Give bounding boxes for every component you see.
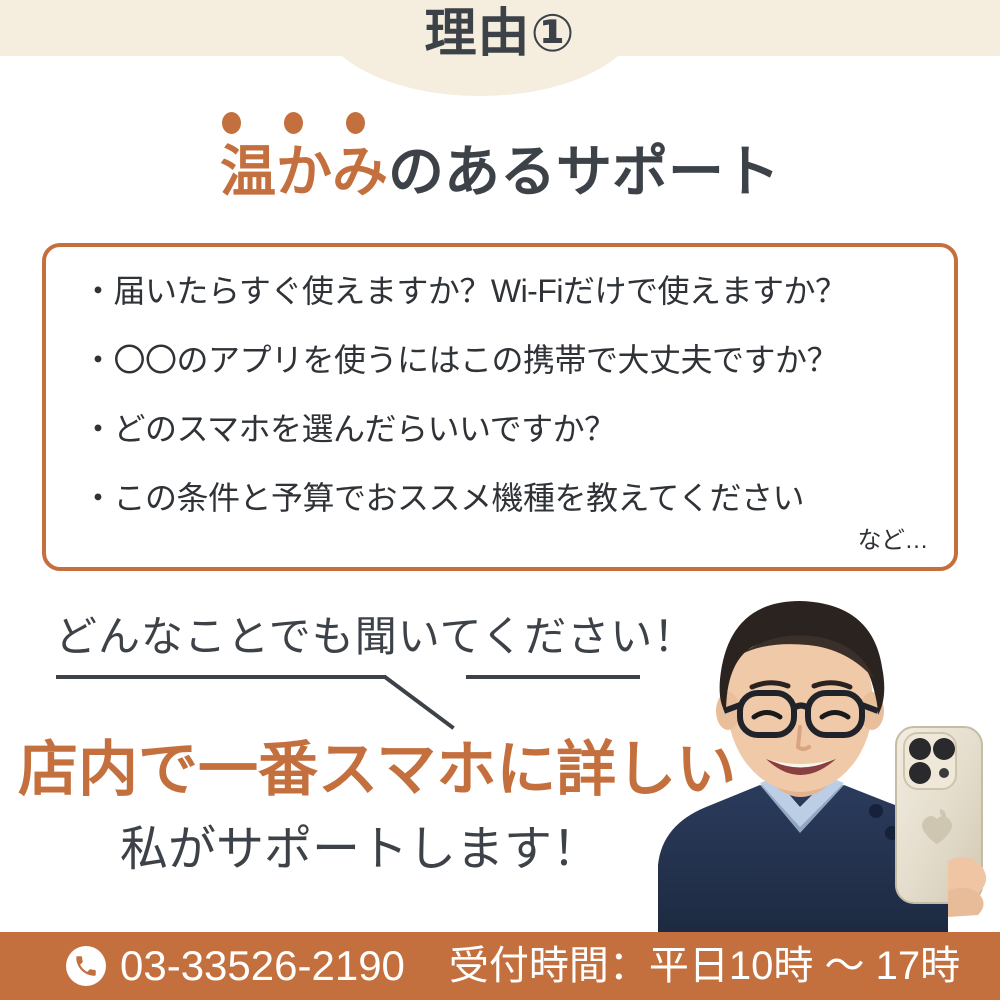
headline: 温かみのあるサポート <box>0 140 1000 204</box>
claim-main-text: 店内で一番スマホに詳しい <box>18 740 736 800</box>
emphasis-dots <box>222 112 382 136</box>
camera-flash <box>939 768 949 778</box>
emphasis-dot-icon <box>346 112 365 134</box>
speech-bubble-tail-icon <box>40 665 660 740</box>
claim-sub-text: 私がサポートします！ <box>120 826 600 874</box>
camera-lens <box>909 762 931 784</box>
headline-accent: 温かみ <box>220 140 388 203</box>
question-box: ・届いたらすぐ使えますか？Wi-Fiだけで使えますか？ ・〇〇のアプリを使うには… <box>42 243 958 571</box>
phone-handset-icon <box>66 946 106 986</box>
sweater-button <box>869 804 883 818</box>
question-box-suffix: など… <box>858 520 929 555</box>
reason-badge-label: 理由① <box>0 8 1000 60</box>
emphasis-dot-icon <box>222 112 241 134</box>
phone-number[interactable]: 03-33526-2190 <box>120 945 405 987</box>
list-item: ・どのスマホを選んだらいいですか？ <box>82 413 932 445</box>
emphasis-dot-icon <box>284 112 303 134</box>
business-hours: 受付時間：平日10時 〜 17時 <box>449 946 960 986</box>
list-item: ・この条件と予算でおススメ機種を教えてください <box>82 482 932 514</box>
list-item: ・〇〇のアプリを使うにはこの携帯で大丈夫ですか？ <box>82 344 932 376</box>
question-list: ・届いたらすぐ使えますか？Wi-Fiだけで使えますか？ ・〇〇のアプリを使うには… <box>82 275 932 514</box>
ask-anything-text: どんなことでも聞いてください！ <box>55 603 696 664</box>
footer-inner: 03-33526-2190 受付時間：平日10時 〜 17時 <box>0 945 960 987</box>
advertisement-page: 理由① 温かみのあるサポート ・届いたらすぐ使えますか？Wi-Fiだけで使えます… <box>0 0 1000 1000</box>
staff-illustration <box>648 575 1000 940</box>
staff-photo <box>648 575 1000 940</box>
list-item: ・届いたらすぐ使えますか？Wi-Fiだけで使えますか？ <box>82 275 932 307</box>
hand-with-phone <box>896 727 986 917</box>
headline-rest: のあるサポート <box>388 140 780 203</box>
camera-lens <box>933 738 955 760</box>
camera-lens <box>909 738 931 760</box>
footer-contact-bar: 03-33526-2190 受付時間：平日10時 〜 17時 <box>0 932 1000 1000</box>
